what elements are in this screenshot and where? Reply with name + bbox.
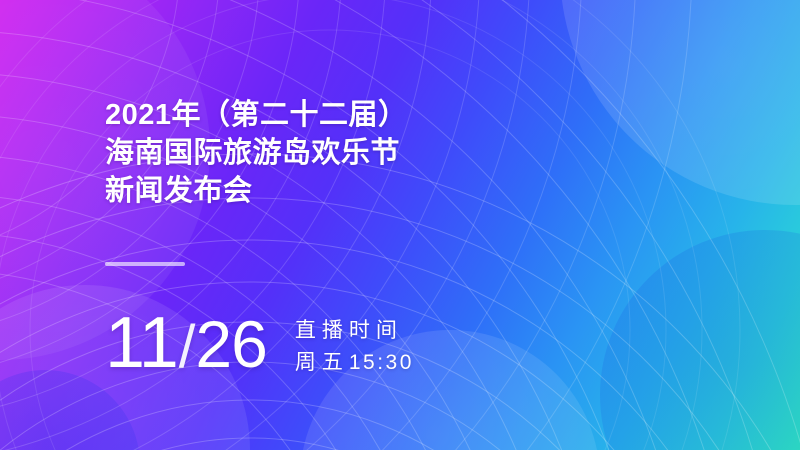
broadcast-time-value: 周五15:30 [295, 347, 414, 379]
broadcast-weekday: 周五 [295, 351, 349, 374]
title-line-2: 海南国际旅游岛欢乐节 [105, 134, 408, 172]
broadcast-clock-time: 15:30 [349, 351, 414, 374]
title-line-3: 新闻发布会 [105, 172, 408, 210]
broadcast-time-label: 直播时间 [295, 315, 414, 347]
event-datetime: 11/26 直播时间 周五15:30 [105, 300, 414, 390]
event-date-separator: / [178, 313, 196, 380]
title-line-1: 2021年（第二十二届） [105, 96, 408, 134]
event-date-month: 11 [105, 303, 178, 383]
event-date-day: 26 [195, 307, 266, 381]
poster-title: 2021年（第二十二届） 海南国际旅游岛欢乐节 新闻发布会 [105, 96, 408, 210]
broadcast-time-info: 直播时间 周五15:30 [295, 311, 414, 379]
title-divider [105, 262, 185, 266]
event-poster: 2021年（第二十二届） 海南国际旅游岛欢乐节 新闻发布会 11/26 直播时间… [0, 0, 800, 450]
poster-content: 2021年（第二十二届） 海南国际旅游岛欢乐节 新闻发布会 11/26 直播时间… [105, 0, 705, 450]
event-date: 11/26 [105, 300, 267, 390]
